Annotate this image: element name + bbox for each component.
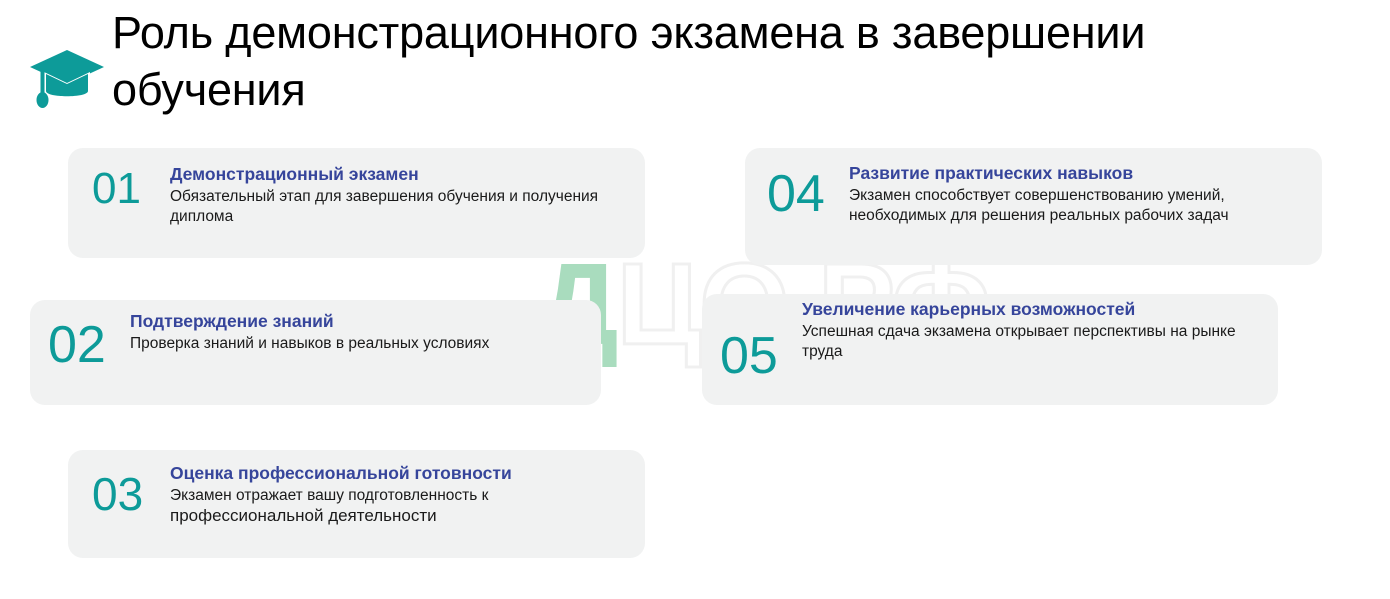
card-04-content: 04 Развитие практических навыков Экзамен… — [767, 162, 1312, 226]
card-03-heading: Оценка профессиональной готовности — [170, 462, 632, 484]
card-01-heading: Демонстрационный экзамен — [170, 163, 632, 185]
card-03-body-line-1: Экзамен отражает вашу подготовленность к — [170, 486, 632, 506]
card-03-number: 03 — [92, 471, 170, 517]
card-05-text: Увеличение карьерных возможностей Успешн… — [802, 297, 1280, 362]
card-03-content: 03 Оценка профессиональной готовности Эк… — [92, 462, 632, 526]
card-05-content: 05 Увеличение карьерных возможностей Усп… — [720, 297, 1280, 382]
card-03-text: Оценка профессиональной готовности Экзам… — [170, 462, 632, 526]
card-04-body: Экзамен способствует совершенствованию у… — [849, 186, 1312, 226]
card-03-body-line-2: профессиональной деятельности — [170, 506, 632, 526]
card-04-text: Развитие практических навыков Экзамен сп… — [849, 162, 1312, 226]
card-04-heading: Развитие практических навыков — [849, 162, 1312, 184]
card-01-text: Демонстрационный экзамен Обязательный эт… — [170, 163, 632, 227]
card-04-number: 04 — [767, 168, 849, 220]
card-02-heading: Подтверждение знаний — [130, 310, 588, 332]
card-02-content: 02 Подтверждение знаний Проверка знаний … — [48, 310, 588, 371]
card-05-body: Успешная сдача экзамена открывает перспе… — [802, 322, 1280, 362]
card-02-body: Проверка знаний и навыков в реальных усл… — [130, 334, 588, 354]
card-03-body: Экзамен отражает вашу подготовленность к… — [170, 486, 632, 526]
card-05-number: 05 — [720, 330, 802, 382]
card-05-heading: Увеличение карьерных возможностей — [802, 297, 1280, 321]
slide-canvas: ДЦО.РФ Роль демонстрационного экзамена в… — [0, 0, 1390, 599]
card-01-body: Обязательный этап для завершения обучени… — [170, 187, 632, 227]
card-02-text: Подтверждение знаний Проверка знаний и н… — [130, 310, 588, 354]
graduation-cap-icon — [28, 46, 106, 112]
page-title: Роль демонстрационного экзамена в заверш… — [112, 4, 1292, 118]
card-01-content: 01 Демонстрационный экзамен Обязательный… — [92, 163, 632, 227]
card-01-number: 01 — [92, 167, 170, 211]
card-02-number: 02 — [48, 319, 130, 371]
